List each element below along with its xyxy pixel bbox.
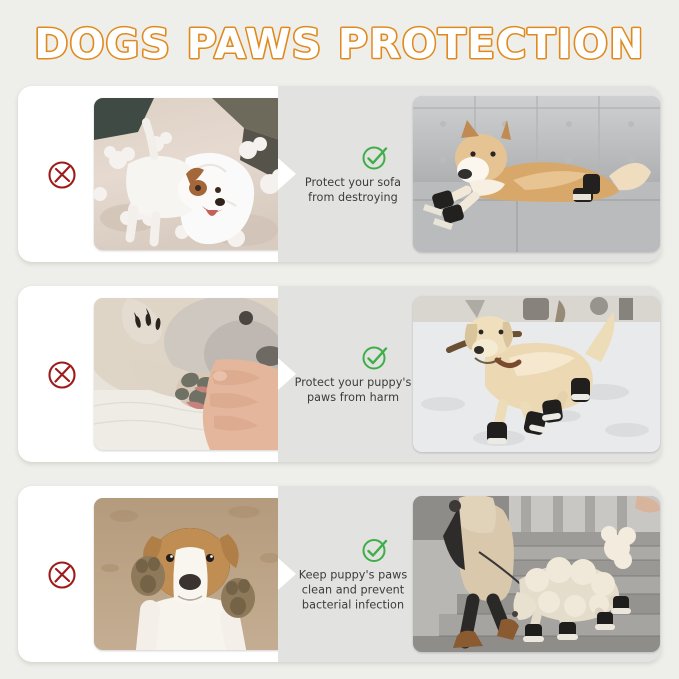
- caption-line: Protect your puppy's: [290, 375, 416, 390]
- after-photo: [413, 496, 660, 652]
- caption-text: Protect your puppy's paws from harm: [290, 375, 416, 405]
- x-circle-icon: [46, 157, 80, 191]
- product-infographic: DOGS PAWS PROTECTION: [0, 0, 679, 679]
- caption-text: Protect your sofa from destroying: [290, 175, 416, 205]
- caption-line: Protect your sofa: [290, 175, 416, 190]
- benefit-card: Protect your sofa from destroying: [18, 86, 661, 262]
- check-circle-icon: [361, 143, 389, 171]
- caption-line: paws from harm: [290, 390, 416, 405]
- benefit-card: Protect your puppy's paws from harm: [18, 286, 661, 462]
- caption-line: Keep puppy's paws: [290, 568, 416, 583]
- arrow-right-icon: [278, 156, 300, 192]
- x-circle-icon: [46, 557, 80, 591]
- caption-line: clean and prevent: [290, 583, 416, 598]
- before-photo: [94, 298, 286, 450]
- caption-line: from destroying: [290, 190, 416, 205]
- arrow-right-icon: [278, 556, 300, 592]
- benefit-caption: Protect your sofa from destroying: [290, 143, 416, 205]
- after-section: Keep puppy's paws clean and prevent bact…: [278, 486, 661, 662]
- after-photo: [413, 296, 660, 452]
- after-photo: [413, 96, 660, 252]
- before-photo: [94, 498, 286, 650]
- after-section: Protect your sofa from destroying: [278, 86, 661, 262]
- page-title-container: DOGS PAWS PROTECTION: [0, 16, 679, 72]
- before-section: [18, 286, 278, 462]
- after-section: Protect your puppy's paws from harm: [278, 286, 661, 462]
- check-circle-icon: [361, 343, 389, 371]
- benefit-caption: Keep puppy's paws clean and prevent bact…: [290, 536, 416, 613]
- arrow-right-icon: [278, 356, 300, 392]
- caption-line: bacterial infection: [290, 598, 416, 613]
- benefit-card: Keep puppy's paws clean and prevent bact…: [18, 486, 661, 662]
- before-section: [18, 486, 278, 662]
- before-section: [18, 86, 278, 262]
- check-circle-icon: [361, 536, 389, 564]
- caption-text: Keep puppy's paws clean and prevent bact…: [290, 568, 416, 613]
- x-circle-icon: [46, 357, 80, 391]
- page-title: DOGS PAWS PROTECTION: [34, 24, 644, 65]
- benefit-caption: Protect your puppy's paws from harm: [290, 343, 416, 405]
- before-photo: [94, 98, 286, 250]
